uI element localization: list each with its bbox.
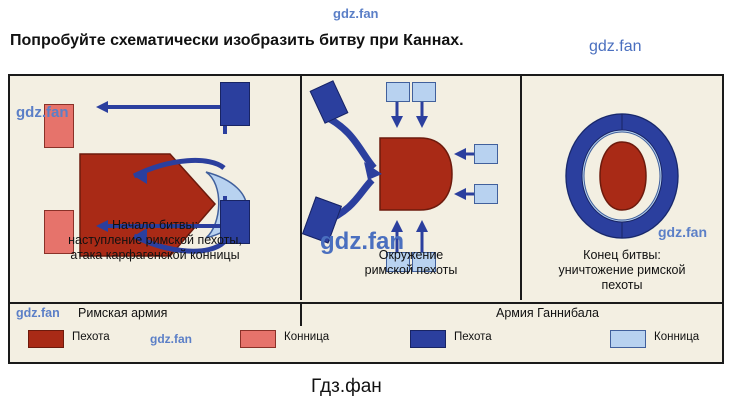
arrow-bottom-2-head — [416, 220, 428, 232]
panel-start-of-battle: gdz.fan Начало битвы: наступление римско… — [10, 76, 300, 298]
arrow-top-2-head — [416, 116, 428, 128]
panel-encirclement: gdz.fan Окружение римской пехоты — [302, 76, 520, 298]
watermark-legend-left: gdz.fan — [16, 306, 60, 320]
panel3-caption-line-2: уничтожение римской — [522, 263, 722, 278]
carthage-infantry-top-1 — [386, 82, 410, 102]
panel1-caption: Начало битвы: наступление римской пехоты… — [10, 218, 300, 263]
watermark-legend-mid: gdz.fan — [150, 332, 192, 346]
legend-label-roman-infantry: Пехота — [72, 331, 110, 343]
panel3-caption: Конец битвы: уничтожение римской пехоты — [522, 248, 722, 293]
arrow-right-1-head — [454, 148, 466, 160]
legend-swatch-carthage-cavalry — [610, 330, 646, 348]
page-title: Попробуйте схематически изобразить битву… — [10, 32, 464, 50]
carthage-infantry-top-2 — [412, 82, 436, 102]
panel1-caption-line-3: атака карфагенской конницы — [10, 248, 300, 263]
legend-swatch-carthage-infantry — [410, 330, 446, 348]
panel2-caption-line-1: Окружение — [302, 248, 520, 263]
panel2-caption: Окружение римской пехоты — [302, 248, 520, 278]
battle-diagram: gdz.fan Начало битвы: наступление римско… — [8, 74, 724, 364]
roman-cavalry-top — [44, 104, 74, 148]
arrow-upper-left — [324, 116, 374, 168]
carthage-infantry-right-2 — [474, 184, 498, 204]
legend-label-roman-cavalry: Конница — [284, 331, 329, 343]
legend-label-carthage-cavalry: Конница — [654, 331, 699, 343]
arrow-bottom-1-head — [391, 220, 403, 232]
panel1-caption-line-1: Начало битвы: — [10, 218, 300, 233]
panel1-caption-line-2: наступление римской пехоты, — [10, 233, 300, 248]
carthage-infantry-right-1 — [474, 144, 498, 164]
arrow-top-1-head — [391, 116, 403, 128]
legend-column-divider — [300, 304, 302, 326]
watermark-top: gdz.fan — [333, 6, 379, 21]
watermark-bottom: Гдз.фан — [311, 376, 382, 398]
panel-end-of-battle: gdz.fan Конец битвы: уничтожение римской… — [522, 76, 722, 298]
arrow-left-top-head — [96, 101, 108, 113]
panel3-caption-line-1: Конец битвы: — [522, 248, 722, 263]
trapped-roman-infantry — [600, 142, 646, 210]
bracket-top — [150, 107, 225, 134]
roman-infantry-block — [380, 138, 452, 210]
legend-swatch-roman-infantry — [28, 330, 64, 348]
legend-title-hannibal: Армия Ганнибала — [496, 306, 599, 320]
arrow-right-2-head — [454, 188, 466, 200]
panel3-caption-line-3: пехоты — [522, 278, 722, 293]
watermark-title-side: gdz.fan — [589, 38, 641, 56]
legend-swatch-roman-cavalry — [240, 330, 276, 348]
panel2-caption-line-2: римской пехоты — [302, 263, 520, 278]
legend-title-roman: Римская армия — [78, 306, 167, 320]
legend: gdz.fan Римская армия Армия Ганнибала Пе… — [10, 304, 722, 362]
legend-label-carthage-infantry: Пехота — [454, 331, 492, 343]
carthage-cavalry-top — [220, 82, 250, 126]
